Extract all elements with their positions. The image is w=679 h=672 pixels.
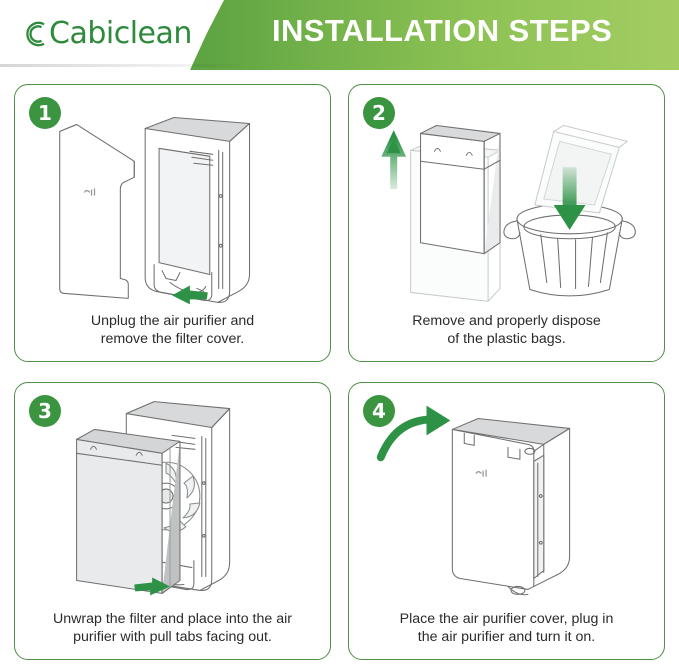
illustration-assembled-air-purifier [349,391,664,609]
step-caption-3-line2: purifier with pull tabs facing out. [25,628,320,647]
step-caption-2-line1: Remove and properly dispose [359,312,654,331]
illustration-air-purifier-cover-removed [15,93,330,311]
step-panel-2: 2 [348,84,665,362]
step-caption-1: Unplug the air purifier and remove the f… [25,312,320,349]
step-caption-3: Unwrap the filter and place into the air… [25,610,320,647]
step-caption-4-line2: the air purifier and turn it on. [359,628,654,647]
page-title: INSTALLATION STEPS [272,13,612,49]
step-caption-1-line2: remove the filter cover. [25,330,320,349]
illustration-filter-bag-and-trash-can [349,93,664,311]
double-arc-c-mark [22,19,48,49]
arrow-up-icon [387,138,401,189]
arrow-curved-up-right-icon [381,406,451,458]
step-caption-2-line2: of the plastic bags. [359,330,654,349]
page-header: INSTALLATION STEPS Cabiclean [0,0,679,70]
arrow-left-icon [172,285,208,304]
brand-logo: Cabiclean [22,16,192,51]
logo-text: Cabiclean [49,16,192,51]
step-caption-4: Place the air purifier cover, plug in th… [359,610,654,647]
step-caption-3-line1: Unwrap the filter and place into the air [25,610,320,629]
illustration-filter-into-purifier [15,391,330,609]
header-divider [0,64,240,67]
step-panel-4: 4 [348,382,665,660]
step-caption-1-line1: Unplug the air purifier and [25,312,320,331]
installation-steps-grid: 1 [14,84,665,660]
step-panel-3: 3 [14,382,331,660]
step-caption-2: Remove and properly dispose of the plast… [359,312,654,349]
step-panel-1: 1 [14,84,331,362]
step-caption-4-line1: Place the air purifier cover, plug in [359,610,654,629]
